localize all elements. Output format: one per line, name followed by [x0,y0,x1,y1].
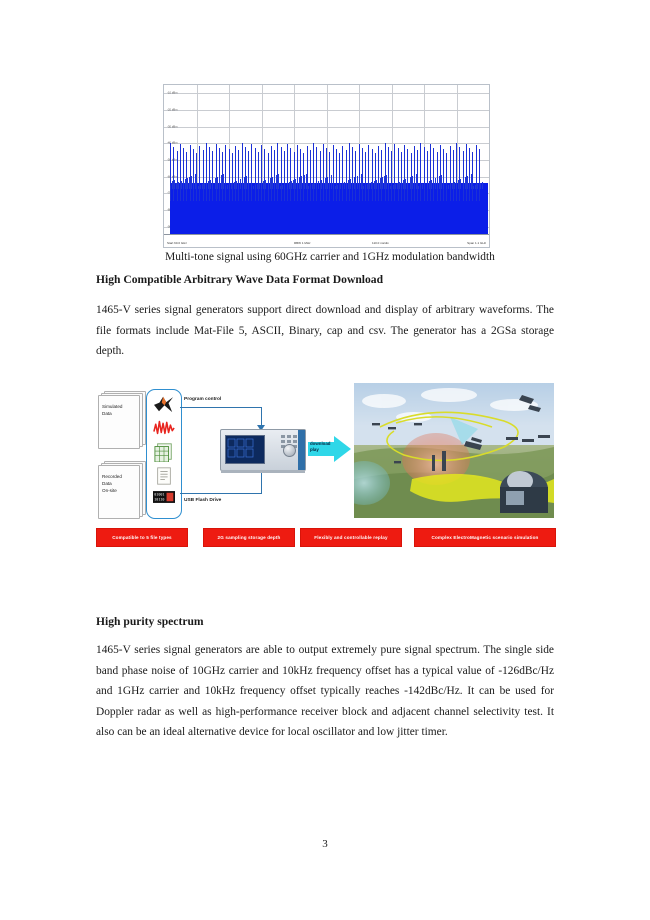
waveform-icon [153,418,175,438]
spectrum-tone-line [404,145,405,200]
spectrum-tone-line [186,152,187,200]
spectrum-tone-line [203,150,204,200]
spectrum-tone-line [342,146,343,200]
spectrum-noise-spike [329,176,330,189]
svg-text:10110: 10110 [154,497,164,501]
spectrum-noise-spike [369,183,370,189]
spectrum-analyzer-figure: -10 dBm-20 dBm-30 dBm-40 dBm-50 dBm-60 d… [163,84,490,248]
spectrum-noise-spike [274,176,275,189]
spectrum-noise-spike [295,179,296,189]
spectrum-noise-spike [405,179,406,189]
spectrum-noise-spike [424,183,425,189]
spectrum-noise-spike [304,175,305,189]
spectrum-noise-spike [380,178,381,189]
spectrum-tone-line [206,143,207,200]
label-usb-flash-drive: USB Flash Drive [184,498,221,503]
spectrum-noise-spike [452,183,453,189]
spectrum-noise-spike [327,177,328,189]
spectrum-tone-line [368,145,369,200]
spectrum-tone-line [245,147,246,200]
spectrum-tone-line [476,145,477,200]
spectrum-noise-spike [282,185,283,189]
spectrum-y-tick-label: -20 dBm [167,109,178,112]
instrument-side-panel [298,430,305,470]
spectrum-noise-spike [480,183,481,189]
binary-data-icon: 0100110110 [153,490,175,506]
source-doc-simulated-data: SimulatedData [98,391,144,447]
wire-top-run [180,407,262,408]
spectrum-tone-line [378,146,379,200]
download-play-arrow: downloadplay [308,435,352,463]
spectrum-noise-spike [253,186,254,189]
spectrum-noise-spike [397,183,398,189]
spectrum-noise-spike [257,184,258,189]
spectrum-noise-spike [418,186,419,189]
spectrum-tone-line [271,146,272,200]
spectrum-noise-spike [363,186,364,189]
spectrum-tone-line [450,146,451,200]
spectrum-noise-spike [204,183,205,189]
spectrum-noise-spike [242,178,243,189]
spectrum-noise-spike [308,186,309,189]
spectrum-tone-line [339,153,340,200]
spectrum-noise-spike [276,175,277,189]
spectrum-tone-line [414,146,415,200]
spectrum-tone-line [287,144,288,200]
spectrum-noise-spike [350,179,351,189]
spectrum-noise-spike [195,174,196,189]
spectrum-noise-spike [395,184,396,189]
spectrum-noise-spike [219,176,220,189]
spectrum-tone-line [268,153,269,200]
spectrum-noise-spike [231,183,232,189]
section-body-high-purity: 1465-V series signal generators are able… [96,640,554,743]
spectrum-tone-line [394,144,395,200]
spectrum-noise-spike [439,176,440,189]
spectrum-tone-line [281,147,282,200]
source-doc-label-simulated: SimulatedData [102,403,136,417]
spectrum-noise-spike [187,178,188,189]
spectrum-noise-spike [367,184,368,189]
instrument-base [221,470,305,473]
feature-banner-replay: Flexibly and controllable replay [300,528,402,547]
spectrum-tone-line [190,145,191,200]
spectrum-noise-spike [268,179,269,189]
spectrum-noise-spike [181,181,182,189]
feature-banner-label: Compatible to 5 file types [112,535,172,540]
spectrum-tone-line [463,151,464,200]
spectrum-tone-line [417,150,418,200]
spectrum-noise-spike [217,177,218,189]
spectrum-noise-spike [301,176,302,189]
spectrum-tone-line [264,149,265,200]
spectrum-tone-line [375,153,376,200]
spectrum-tone-line [479,149,480,200]
spectrum-noise-spike [384,176,385,189]
download-play-label: downloadplay [310,441,336,454]
spectrum-tone-line [251,144,252,200]
spectrum-noise-spike [422,184,423,189]
spectrum-noise-spike [441,175,442,189]
spectrum-noise-spike [280,186,281,189]
spectrum-tone-line [323,144,324,200]
spectrum-tone-line [440,145,441,200]
section-body-arbitrary-wave: 1465-V series signal generators support … [96,300,554,362]
spectrum-noise-spike [284,184,285,189]
spectrum-noise-spike [251,174,252,189]
spectrum-noise-spike [448,185,449,189]
spectrum-noise-spike [312,184,313,189]
svg-text:01001: 01001 [154,493,164,497]
excel-icon [153,442,175,462]
spectrum-noise-spike [240,179,241,189]
spectrum-noise-spike [435,178,436,189]
spectrum-tone-line [333,145,334,200]
spectrum-noise-spike [244,177,245,189]
spectrum-tone-line [446,153,447,200]
spectrum-tone-line [229,149,230,200]
spectrum-tone-line [183,148,184,200]
spectrum-tone-line [359,144,360,200]
spectrum-noise-spike [482,182,483,189]
spectrum-tone-line [310,150,311,200]
spectrum-noise-spike [340,184,341,189]
spectrum-tone-line [232,153,233,200]
spectrum-tone-line [336,149,337,200]
spectrum-noise-spike [176,183,177,189]
spectrum-y-tick-label: -10 dBm [167,92,178,95]
spectrum-noise-spike [471,174,472,189]
matlab-icon [153,394,175,414]
spectrum-noise-spike [374,181,375,189]
instrument-keypad [281,435,299,443]
spectrum-noise-spike [456,181,457,189]
spectrum-noise-spike [287,183,288,189]
spectrum-tone-line [407,149,408,200]
spectrum-tone-line [352,147,353,200]
spectrum-noise-spike [357,176,358,189]
spectrum-noise-spike [378,179,379,189]
spectrum-noise-spike [255,185,256,189]
spectrum-noise-spike [314,183,315,189]
spectrum-tone-line [456,143,457,200]
spectrum-tone-line [284,151,285,200]
spectrum-noise-spike [178,182,179,189]
spectrum-noise-spike [446,186,447,189]
spectrum-tone-line [453,150,454,200]
spectrum-noise-spike [460,179,461,189]
spectrum-noise-spike [348,180,349,189]
text-file-icon [153,466,175,486]
spectrum-noise-spike [354,177,355,189]
figure-caption: Multi-tone signal using 60GHz carrier an… [60,250,600,265]
spectrum-noise-spike [172,181,173,189]
spectrum-noise-spike [270,178,271,189]
feature-banner-file-types: Compatible to 5 file types [96,528,188,547]
spectrum-tone-line [277,143,278,200]
spectrum-tone-line [365,152,366,200]
feature-banner-label: 2G sampling storage depth [218,535,281,540]
spectrum-tone-line [391,151,392,200]
spectrum-tone-line [258,152,259,200]
spectrum-noise-spike [289,182,290,189]
spectrum-noise-spike [401,181,402,189]
spectrum-tone-line [235,146,236,200]
spectrum-tone-line [225,145,226,200]
spectrum-tone-line [313,143,314,200]
spectrum-noise-spike [246,176,247,189]
spectrum-noise-spike [278,174,279,189]
spectrum-noise-spike [318,181,319,189]
spectrum-tone-line [326,148,327,200]
spectrum-noise-spike [346,181,347,189]
spectrum-tone-line [466,144,467,200]
spectrum-tone-line [316,147,317,200]
spectrum-noise-spike [337,185,338,189]
spectrum-noise-spike [215,178,216,189]
spectrum-noise-spike [223,174,224,189]
spectrum-noise-spike [359,175,360,189]
spectrum-rbw-label: RBW 1 MHz [294,241,311,245]
wire-bottom-up [261,473,262,494]
spectrum-tone-line [420,143,421,200]
spectrum-noise-spike [297,178,298,189]
spectrum-tone-line [398,148,399,200]
section-heading-arbitrary-wave: High Compatible Arbitrary Wave Data Form… [96,272,556,288]
spectrum-noise-spike [433,179,434,189]
spectrum-noise-spike [371,182,372,189]
spectrum-noise-spike [193,175,194,189]
spectrum-noise-spike [185,179,186,189]
spectrum-noise-spike [475,185,476,189]
spectrum-tone-line [459,147,460,200]
spectrum-tone-line [290,148,291,200]
spectrum-noise-spike [467,176,468,189]
spectrum-noise-spike [410,177,411,189]
spectrum-noise-spike [183,180,184,189]
spectrum-start-freq-label: Start 60.0 GHz [167,241,187,245]
spectrum-noise-spike [469,175,470,189]
spectrum-noise-spike [399,182,400,189]
spectrum-tone-line [242,143,243,200]
software-format-panel: 0100110110 [146,389,182,519]
spectrum-noise-spike [477,184,478,189]
spectrum-noise-spike [342,183,343,189]
spectrum-noise-spike [331,175,332,189]
spectrum-noise-spike [293,180,294,189]
spectrum-noise-spike [325,178,326,189]
spectrum-noise-spike [323,179,324,189]
spectrum-noise-spike [376,180,377,189]
spectrum-noise-spike [221,175,222,189]
spectrum-noise-spike [437,177,438,189]
spectrum-noise-spike [248,175,249,189]
spectrum-sweep-label: 110.0 ms/div [372,241,389,245]
spectrum-noise-spike [458,180,459,189]
spectrum-noise-spike [210,180,211,189]
spectrum-tone-line [424,147,425,200]
feature-banner-scenario-simulation: Complex ElectroMagnetic scenario simulat… [414,528,556,547]
spectrum-tone-line [294,152,295,200]
wire-bottom-run [180,493,262,494]
spectrum-noise-spike [227,185,228,189]
spectrum-noise-spike [388,174,389,189]
spectrum-noise-spike [299,177,300,189]
spectrum-y-tick-label: -30 dBm [167,125,178,128]
section-heading-high-purity: High purity spectrum [96,614,556,630]
spectrum-noise-spike [212,179,213,189]
spectrum-tone-line [238,150,239,200]
workflow-diagram: SimulatedData RecordedDataOn-site [96,383,554,548]
spectrum-tone-line [212,151,213,200]
spectrum-tone-line [427,151,428,200]
spectrum-tone-line [401,152,402,200]
spectrum-noise-spike [412,176,413,189]
spectrum-noise-spike [316,182,317,189]
spectrum-noise-spike [443,174,444,189]
spectrum-noise-spike [361,174,362,189]
spectrum-noise-spike [454,182,455,189]
spectrum-tone-line [381,150,382,200]
spectrum-tone-line [173,147,174,200]
spectrum-noise-spike [407,178,408,189]
spectrum-noise-spike [390,186,391,189]
spectrum-noise-spike [420,185,421,189]
spectrum-noise-spike [465,177,466,189]
spectrum-noise-spike [310,185,311,189]
spectrum-noise-spike [236,181,237,189]
instrument-knob [283,444,296,457]
feature-banner-storage-depth: 2G sampling storage depth [203,528,295,547]
spectrum-noise-spike [333,174,334,189]
spectrum-noise-spike [174,180,175,189]
feature-banner-row: Compatible to 5 file types 2G sampling s… [96,528,554,545]
spectrum-noise-spike [272,177,273,189]
spectrum-tone-line [320,151,321,200]
spectrum-tone-line [209,147,210,200]
spectrum-noise-spike [429,181,430,189]
spectrum-noise-spike [189,177,190,189]
feature-banner-label: Flexibly and controllable replay [314,535,387,540]
spectrum-tone-line [180,144,181,200]
spectrum-plot-area: -10 dBm-20 dBm-30 dBm-40 dBm-50 dBm-60 d… [164,85,489,247]
spectrum-noise-spike [225,186,226,189]
electromagnetic-scenario-image [354,383,554,518]
spectrum-noise-spike [208,181,209,189]
spectrum-tone-line [349,143,350,200]
source-doc-recorded-data: RecordedDataOn-site [98,461,144,517]
spectrum-noise-spike [450,184,451,189]
spectrum-tone-line [170,143,171,200]
spectrum-tone-line [219,148,220,200]
label-program-control: Program control [184,397,221,402]
source-doc-label-recorded: RecordedDataOn-site [102,473,136,494]
spectrum-noise-spike [261,182,262,189]
spectrum-tone-line [261,145,262,200]
spectrum-tone-line [297,145,298,200]
spectrum-noise-spike [265,180,266,189]
spectrum-noise-spike [229,184,230,189]
spectrum-tone-line [177,151,178,200]
spectrum-tone-line [255,148,256,200]
spectrum-noise-spike [202,184,203,189]
spectrum-noise-spike [306,174,307,189]
spectrum-noise-spike [321,180,322,189]
page-number: 3 [0,838,650,850]
spectrum-tone-line [472,152,473,200]
spectrum-noise-spike [291,181,292,189]
spectrum-tone-line [433,148,434,200]
document-page: -10 dBm-20 dBm-30 dBm-40 dBm-50 dBm-60 d… [0,0,650,920]
spectrum-tone-line [199,146,200,200]
feature-banner-label: Complex ElectroMagnetic scenario simulat… [431,535,538,540]
spectrum-noise-spike [365,185,366,189]
spectrum-noise-spike [198,186,199,189]
spectrum-noise-spike [263,181,264,189]
spectrum-noise-spike [238,180,239,189]
spectrum-noise-spike [386,175,387,189]
spectrum-tone-line [430,144,431,200]
spectrum-x-axis-bar: Start 60.0 GHz RBW 1 MHz 110.0 ms/div Sp… [164,234,489,247]
spectrum-noise-spike [403,180,404,189]
spectrum-y-tick-label: -40 dBm [167,142,178,145]
spectrum-tone-line [372,149,373,200]
spectrum-noise-spike [352,178,353,189]
spectrum-noise-spike [473,186,474,189]
spectrum-noise-spike [259,183,260,189]
spectrum-tone-line [300,149,301,200]
spectrum-noise-spike [344,182,345,189]
spectrum-noise-spike [234,182,235,189]
spectrum-noise-spike [393,185,394,189]
spectrum-noise-spike [382,177,383,189]
spectrum-tone-line [346,150,347,200]
spectrum-noise-spike [463,178,464,189]
spectrum-span-label: Span 1.1 GHz [467,241,486,245]
instrument-screen [225,435,265,464]
spectrum-noise-spike [431,180,432,189]
spectrum-tone-line [216,144,217,200]
spectrum-tone-line [362,148,363,200]
spectrum-noise-spike [191,176,192,189]
spectrum-noise-spike [200,185,201,189]
spectrum-tone-line [385,143,386,200]
spectrum-noise-spike [414,175,415,189]
spectrum-noise-spike [416,174,417,189]
signal-generator-instrument [220,429,306,471]
spectrum-noise-spike [427,182,428,189]
spectrum-noise-spike [206,182,207,189]
spectrum-noise-spike [335,186,336,189]
